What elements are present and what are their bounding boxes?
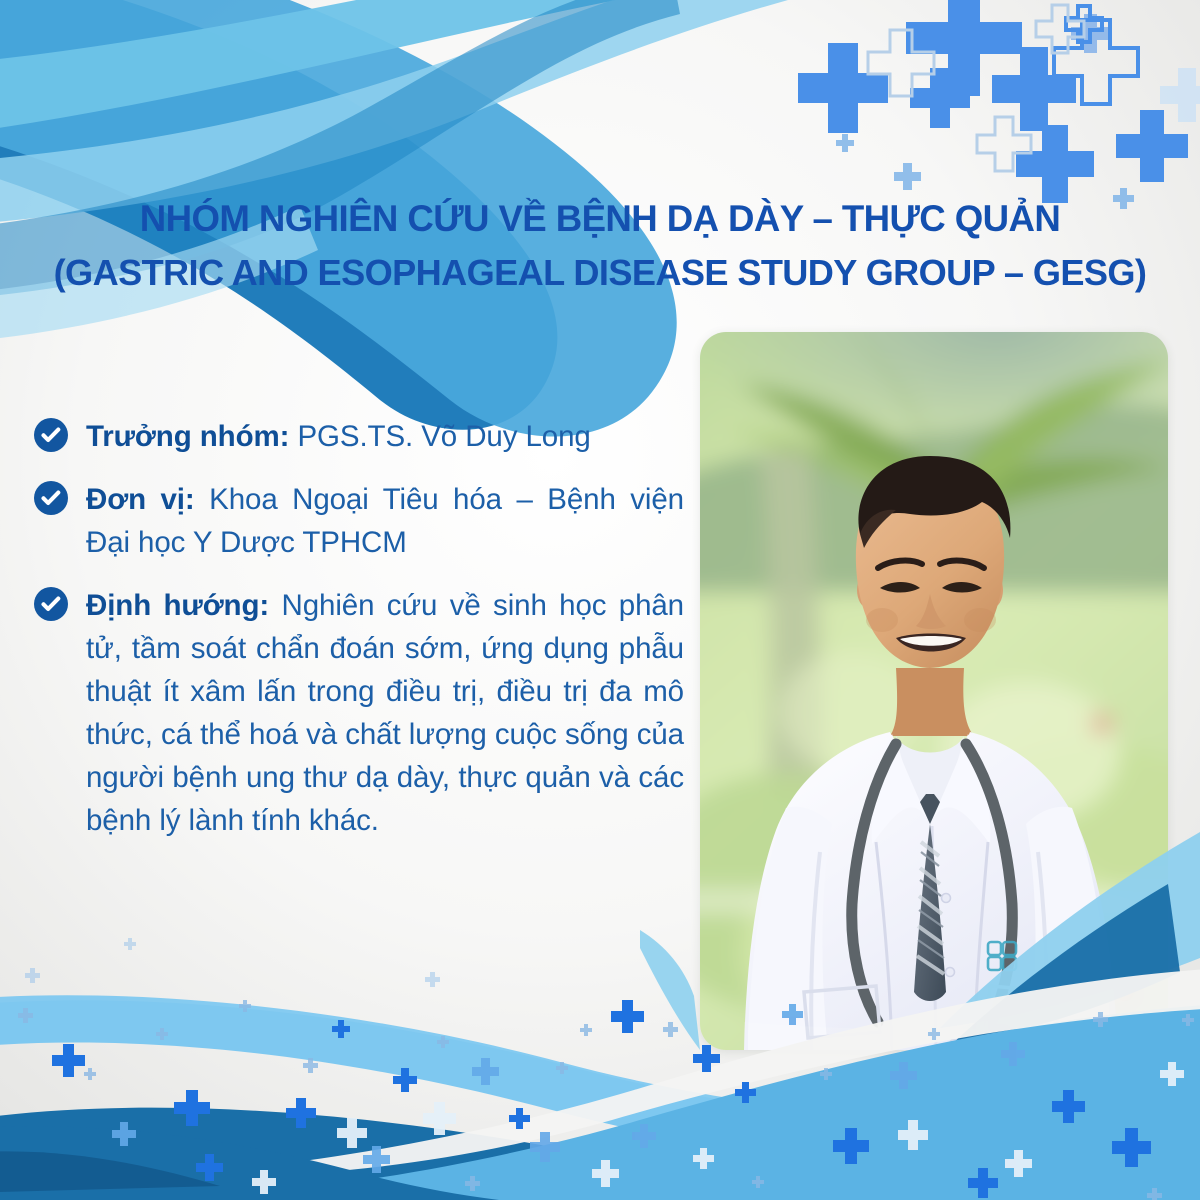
list-item-text: Đơn vị: Khoa Ngoại Tiêu hóa – Bệnh viện … xyxy=(86,478,684,564)
check-circle-icon xyxy=(34,587,68,621)
list-item: Trưởng nhóm: PGS.TS. Võ Duy Long xyxy=(34,415,684,458)
list-item-label: Trưởng nhóm: xyxy=(86,420,297,453)
doctor-portrait-photo xyxy=(700,332,1168,1050)
check-circle-icon xyxy=(34,481,68,515)
list-item-value: Nghiên cứu về sinh học phân tử, tầm soát… xyxy=(86,589,684,837)
list-item-label: Định hướng: xyxy=(86,589,282,622)
check-circle-icon xyxy=(34,418,68,452)
page-title: NHÓM NGHIÊN CỨU VỀ BỆNH DẠ DÀY – THỰC QU… xyxy=(0,192,1200,300)
title-line-1: NHÓM NGHIÊN CỨU VỀ BỆNH DẠ DÀY – THỰC QU… xyxy=(6,192,1194,246)
list-item-value: PGS.TS. Võ Duy Long xyxy=(297,420,590,453)
doctor-portrait-illustration xyxy=(700,332,1168,1050)
list-item: Đơn vị: Khoa Ngoại Tiêu hóa – Bệnh viện … xyxy=(34,478,684,564)
list-item: Định hướng: Nghiên cứu về sinh học phân … xyxy=(34,584,684,842)
poster-canvas: NHÓM NGHIÊN CỨU VỀ BỆNH DẠ DÀY – THỰC QU… xyxy=(0,0,1200,1200)
list-item-label: Đơn vị: xyxy=(86,483,209,516)
list-item-text: Trưởng nhóm: PGS.TS. Võ Duy Long xyxy=(86,415,684,458)
info-list: Trưởng nhóm: PGS.TS. Võ Duy Long Đơn vị:… xyxy=(34,415,684,842)
title-line-2: (GASTRIC AND ESOPHAGEAL DISEASE STUDY GR… xyxy=(6,246,1194,300)
cross-cluster-top-right xyxy=(798,0,1200,209)
list-item-text: Định hướng: Nghiên cứu về sinh học phân … xyxy=(86,584,684,842)
